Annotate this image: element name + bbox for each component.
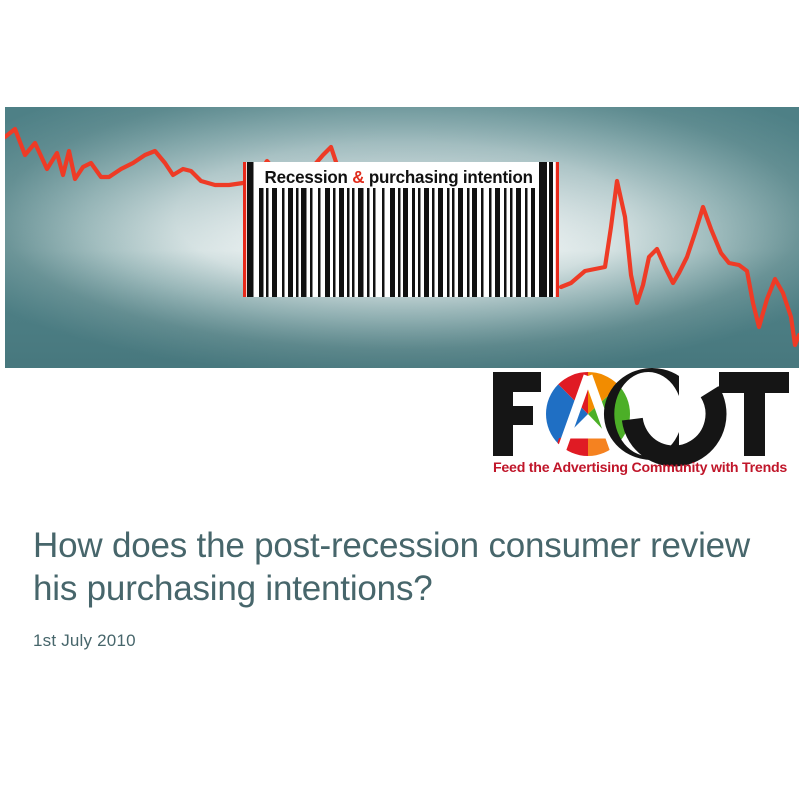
logo-letter-t [719,372,789,456]
page-date: 1st July 2010 [33,630,136,652]
barcode-guard-left [247,162,254,297]
barcode-caption: Recession & purchasing intention [259,166,538,188]
barcode-caption-ampersand: & [352,167,364,187]
barcode-guard-right-thin [549,162,553,297]
barcode-guard-right [539,162,547,297]
logo-letter-f [493,372,541,456]
barcode-caption-suffix: purchasing intention [364,167,533,187]
page-title: How does the post-recession consumer rev… [33,524,763,610]
fact-logo: Feed the Advertising Community with Tren… [489,366,793,478]
barcode-edge-right-red [556,162,559,297]
barcode-caption-prefix: Recession [265,167,353,187]
logo-tagline: Feed the Advertising Community with Tren… [493,460,787,476]
barcode-edge-left-red [243,162,246,297]
fact-logo-graphic: Feed the Advertising Community with Tren… [489,366,793,478]
